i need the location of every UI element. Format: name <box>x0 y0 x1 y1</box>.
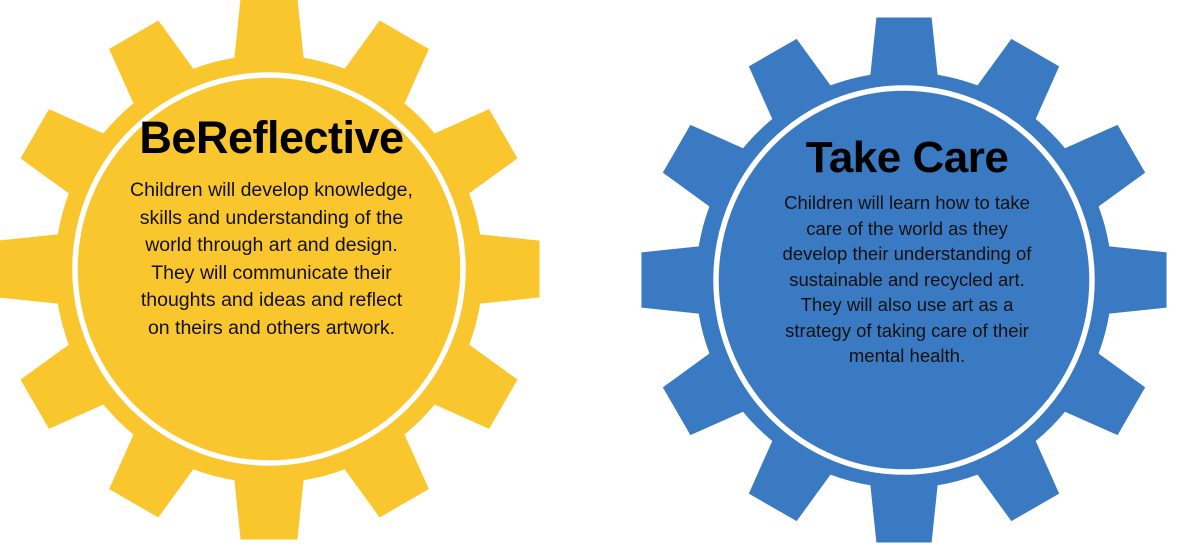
gear-body-be-reflective: Children will develop knowledge,skills a… <box>89 177 454 342</box>
body-line-4: They will also use art as a <box>748 292 1066 318</box>
title-line-1: Reflective <box>196 112 404 163</box>
body-line-1: skills and understanding of the <box>89 205 454 233</box>
body-line-6: mental health. <box>748 343 1066 369</box>
gear-be-reflective[interactable]: BeReflective Children will develop knowl… <box>0 0 542 547</box>
body-line-0: Children will learn how to take <box>748 190 1066 216</box>
body-line-3: They will communicate their <box>89 260 454 288</box>
body-line-2: develop their understanding of <box>748 241 1066 267</box>
title-line-0: Be <box>139 112 196 163</box>
body-line-5: on theirs and others artwork. <box>89 315 454 343</box>
body-line-3: sustainable and recycled art. <box>748 267 1066 293</box>
body-line-1: care of the world as they <box>748 216 1066 242</box>
gear-body-take-care: Children will learn how to takecare of t… <box>748 190 1066 369</box>
body-line-0: Children will develop knowledge, <box>89 177 454 205</box>
body-line-5: strategy of taking care of their <box>748 318 1066 344</box>
body-line-2: world through art and design. <box>89 232 454 260</box>
infographic-canvas: BeReflective Children will develop knowl… <box>0 0 1189 547</box>
gear-title-take-care: Take Care <box>748 132 1066 184</box>
gear-text-block-take-care: Take Care Children will learn how to tak… <box>748 132 1066 369</box>
gear-take-care[interactable]: Take Care Children will learn how to tak… <box>640 14 1168 547</box>
gear-title-be-reflective: BeReflective <box>89 110 454 165</box>
gear-text-block-be-reflective: BeReflective Children will develop knowl… <box>89 110 454 342</box>
title-line-0: Take Care <box>806 133 1009 182</box>
body-line-4: thoughts and ideas and reflect <box>89 287 454 315</box>
